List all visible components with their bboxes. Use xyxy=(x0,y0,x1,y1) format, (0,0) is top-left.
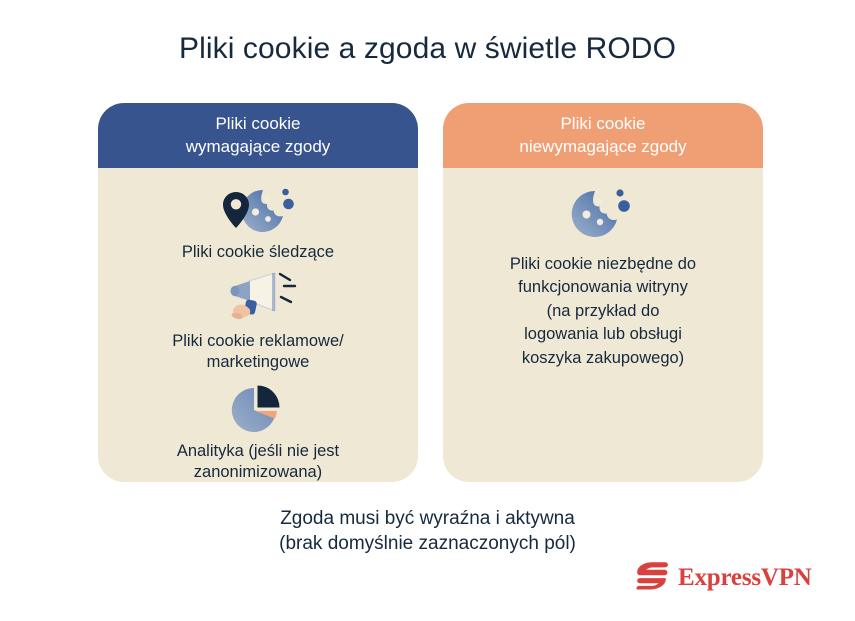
list-item-label-line5: koszyka zakupowego) xyxy=(510,347,696,370)
footer-caption: Zgoda musi być wyraźna i aktywna (brak d… xyxy=(0,506,855,557)
panel-header-requires-consent: Pliki cookie wymagające zgody xyxy=(98,103,418,168)
panel-header-line1: Pliki cookie xyxy=(519,113,686,135)
pie-chart-icon xyxy=(226,381,290,439)
expressvpn-wordmark: ExpressVPN xyxy=(678,564,812,592)
panel-header-line2: niewymagające zgody xyxy=(519,136,686,158)
panel-header-no-consent: Pliki cookie niewymagające zgody xyxy=(443,103,763,168)
list-item-label-line2: funkcjonowania witryny xyxy=(510,276,696,299)
list-item-label-line2: marketingowe xyxy=(172,352,343,373)
expressvpn-e-mark-icon xyxy=(634,560,670,595)
list-item: Pliki cookie śledzące xyxy=(116,182,400,263)
list-item-label: Pliki cookie reklamowe/ marketingowe xyxy=(172,331,343,373)
list-item-label-line1: Analityka (jeśli nie jest xyxy=(177,441,339,462)
list-item-label: Pliki cookie śledzące xyxy=(182,242,334,263)
list-item: Pliki cookie reklamowe/ marketingowe xyxy=(116,271,400,373)
footer-caption-line2: (brak domyślnie zaznaczonych pól) xyxy=(0,531,855,556)
list-item-label-line3: (na przykład do xyxy=(510,300,696,323)
page-title: Pliki cookie a zgoda w świetle RODO xyxy=(0,32,855,66)
panel-body-no-consent: Pliki cookie niezbędne do funkcjonowania… xyxy=(443,168,763,482)
panel-no-consent: Pliki cookie niewymagające zgody xyxy=(443,103,763,482)
list-item: Pliki cookie niezbędne do funkcjonowania… xyxy=(465,184,741,370)
panel-header-line2: wymagające zgody xyxy=(186,136,331,158)
expressvpn-logo: ExpressVPN xyxy=(634,560,812,595)
footer-caption-line1: Zgoda musi być wyraźna i aktywna xyxy=(0,506,855,531)
panel-body-requires-consent: Pliki cookie śledzące xyxy=(98,168,418,482)
list-item-label-line1: Pliki cookie reklamowe/ xyxy=(172,331,343,352)
list-item-label-line2: zanonimizowana) xyxy=(177,462,339,482)
list-item-label-line1: Pliki cookie niezbędne do xyxy=(510,253,696,276)
megaphone-icon xyxy=(219,271,297,329)
list-item-label: Analityka (jeśli nie jest zanonimizowana… xyxy=(177,441,339,482)
panel-requires-consent: Pliki cookie wymagające zgody xyxy=(98,103,418,482)
list-item-label-line4: logowania lub obsługi xyxy=(510,323,696,346)
list-item-label: Pliki cookie niezbędne do funkcjonowania… xyxy=(510,253,696,370)
list-item: Analityka (jeśli nie jest zanonimizowana… xyxy=(116,381,400,482)
panel-header-line1: Pliki cookie xyxy=(186,113,331,135)
cookie-location-pin-icon xyxy=(217,182,299,240)
cookie-icon xyxy=(567,184,639,246)
